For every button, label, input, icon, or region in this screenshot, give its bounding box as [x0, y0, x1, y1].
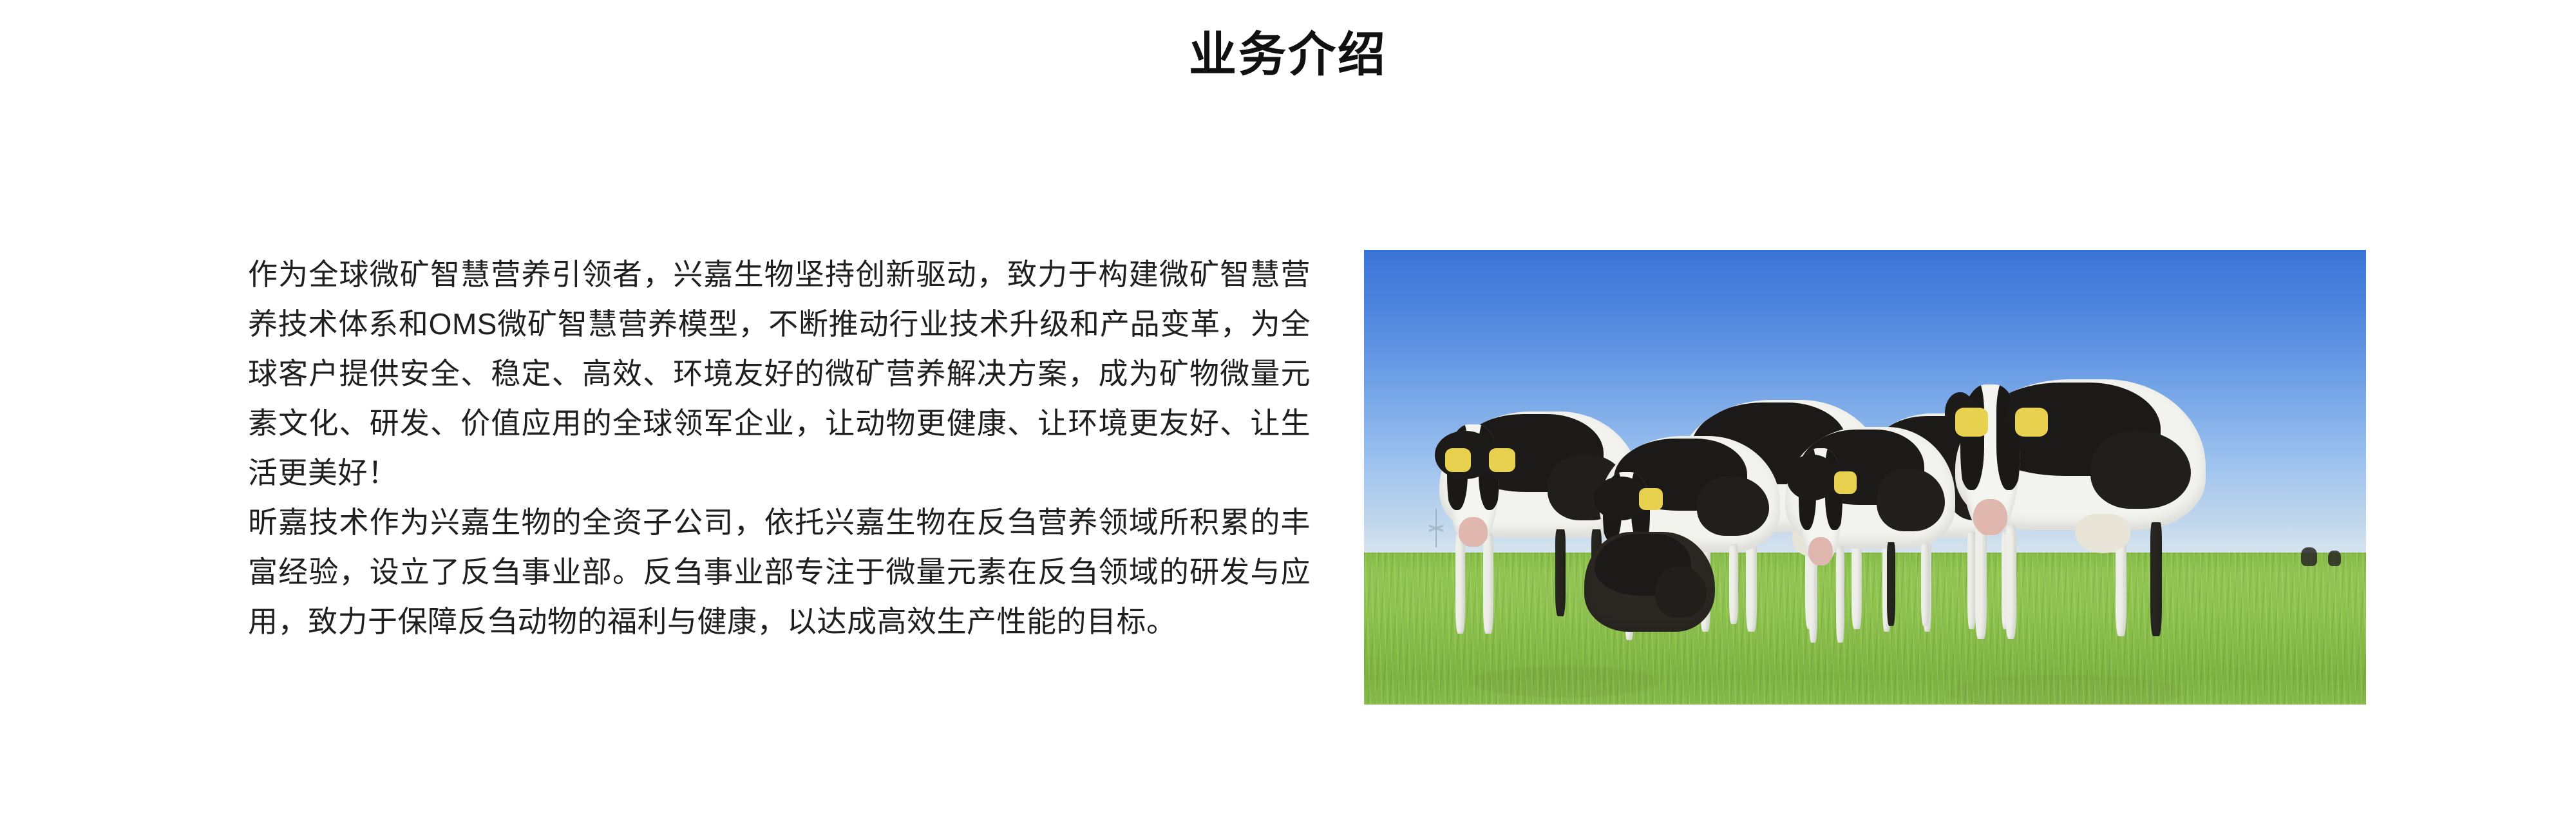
ear-tag — [1639, 488, 1662, 510]
photo-canvas — [1364, 250, 2366, 705]
ear-tag — [1489, 448, 1515, 472]
cow-leg — [1729, 544, 1738, 624]
intro-paragraph-1: 作为全球微矿智慧营养引领者，兴嘉生物坚持创新驱动，致力于构建微矿智慧营养技术体系… — [248, 250, 1311, 498]
cow-leg — [1455, 533, 1466, 634]
business-intro-text: 作为全球微矿智慧营养引领者，兴嘉生物坚持创新驱动，致力于构建微矿智慧营养技术体系… — [248, 250, 1311, 647]
cow-leg — [2150, 522, 2162, 636]
cow-leg — [1483, 533, 1493, 634]
ear-tag — [1955, 408, 1988, 436]
cow-muzzle — [1808, 537, 1833, 565]
distant-cow — [2301, 547, 2317, 565]
cow-leg — [1836, 546, 1844, 642]
cow-pasture-photo — [1364, 250, 2366, 705]
cow-leg — [1555, 529, 1566, 617]
cow-leg — [1887, 542, 1895, 626]
ear-tag — [1445, 448, 1471, 472]
page-title: 业务介绍 — [0, 31, 2576, 79]
cow-leg — [1975, 525, 1987, 639]
cow-leg — [2005, 525, 2017, 639]
ear-tag — [2015, 408, 2048, 436]
cow-6 — [1955, 379, 2206, 638]
cow-leg — [1921, 542, 1929, 626]
ear-tag — [1834, 471, 1856, 495]
distant-cow — [2328, 551, 2341, 566]
content-row: 作为全球微矿智慧营养引领者，兴嘉生物坚持创新驱动，致力于构建微矿智慧营养技术体系… — [0, 250, 2576, 714]
cow-muzzle — [1459, 517, 1488, 547]
cow-udder — [2076, 514, 2131, 553]
cow-reclining — [1584, 532, 1714, 632]
cow-muzzle — [1973, 499, 2007, 535]
intro-paragraph-2: 昕嘉技术作为兴嘉生物的全资子公司，依托兴嘉生物在反刍营养领域所积累的丰富经验，设… — [248, 498, 1311, 647]
cow-body — [1584, 532, 1714, 632]
cow-4 — [1785, 427, 1956, 636]
